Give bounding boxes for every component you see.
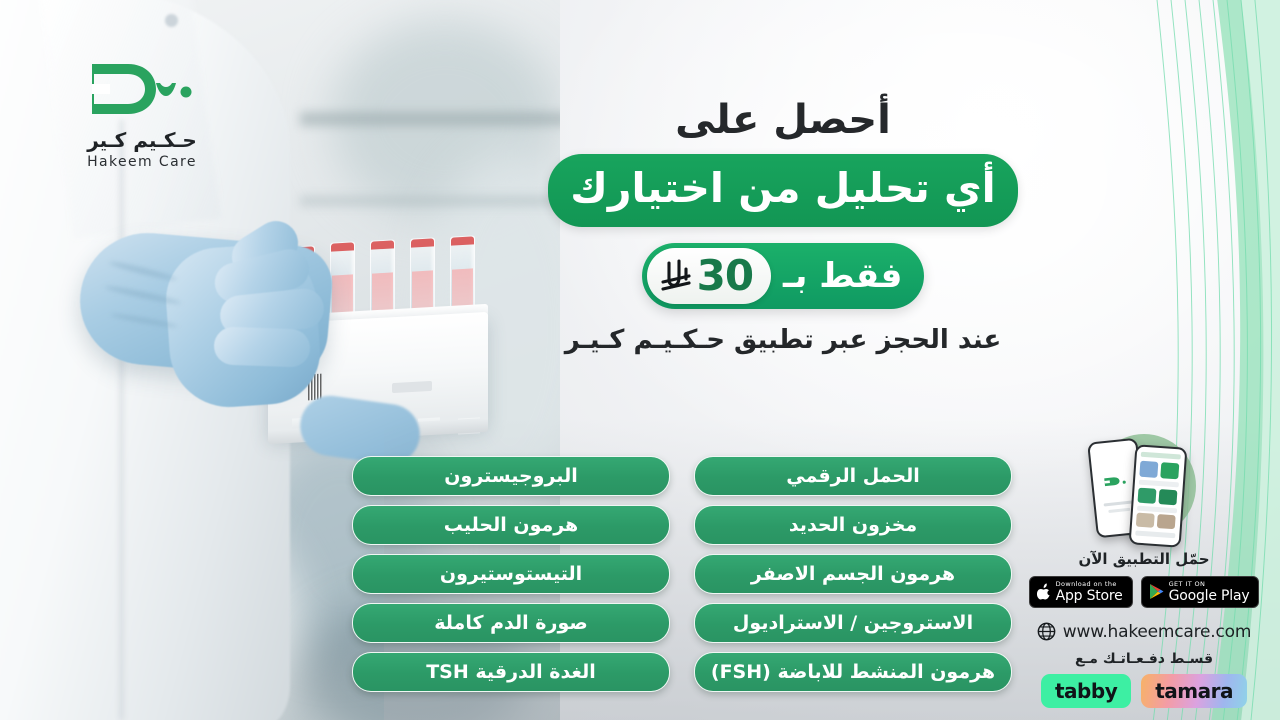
test-pill[interactable]: الغدة الدرقية TSH — [352, 652, 670, 692]
phone-mockups-icon — [1020, 430, 1268, 542]
google-play-icon — [1149, 583, 1164, 600]
price-amount: 30 — [697, 255, 753, 297]
logo-name-en: Hakeem Care — [52, 154, 232, 170]
headline-banner-text: أي تحليل من اختيارك — [566, 163, 1000, 214]
price-chip: 30 — [647, 248, 771, 304]
headline-kicker: أحصل على — [548, 96, 1018, 144]
test-pill[interactable]: صورة الدم كاملة — [352, 603, 670, 643]
google-play-large: Google Play — [1169, 589, 1250, 603]
promo-banner: حـكـيم كـير Hakeem Care أحصل على أي تحلي… — [0, 0, 1280, 720]
test-pill[interactable]: مخزون الحديد — [694, 505, 1012, 545]
test-pill[interactable]: هرمون المنشط للاباضة (FSH) — [694, 652, 1012, 692]
app-store-large: App Store — [1056, 589, 1123, 603]
saudi-riyal-icon — [661, 258, 695, 294]
test-pill[interactable]: البروجيسترون — [352, 456, 670, 496]
website-url: www.hakeemcare.com — [1063, 622, 1251, 642]
pay-providers: tamara tabby — [1020, 674, 1268, 708]
headline-banner: أي تحليل من اختيارك — [548, 154, 1018, 227]
test-pill[interactable]: هرمون الجسم الاصفر — [694, 554, 1012, 594]
test-pill[interactable]: الحمل الرقمي — [694, 456, 1012, 496]
tamara-badge[interactable]: tamara — [1141, 674, 1247, 708]
test-pill[interactable]: هرمون الحليب — [352, 505, 670, 545]
dr-monogram-icon — [84, 56, 200, 122]
price-label: فقط بـ — [771, 256, 902, 296]
tabby-badge[interactable]: tabby — [1041, 674, 1131, 708]
app-sidebar: حمّل التطبيق الآن GET IT ON Google Play — [1020, 430, 1268, 708]
phone-front — [1129, 444, 1188, 547]
headline-subline: عند الحجز عبر تطبيق حـكـيـم كـيـر — [548, 325, 1018, 355]
tests-column-right: الحمل الرقمي مخزون الحديد هرمون الجسم ال… — [694, 456, 1012, 692]
tests-column-left: البروجيسترون هرمون الحليب التيستوستيرون … — [352, 456, 670, 692]
app-store-button[interactable]: Download on the App Store — [1029, 576, 1133, 608]
logo-name-ar: حـكـيم كـير — [52, 128, 232, 152]
globe-icon — [1037, 622, 1056, 641]
google-play-button[interactable]: GET IT ON Google Play — [1141, 576, 1260, 608]
pay-label: قسـط دفـعـاتـك مـع — [1020, 651, 1268, 667]
test-pill[interactable]: التيستوستيرون — [352, 554, 670, 594]
price-badge: فقط بـ 30 — [642, 243, 925, 309]
test-pill[interactable]: الاستروجين / الاستراديول — [694, 603, 1012, 643]
brand-logo: حـكـيم كـير Hakeem Care — [52, 56, 232, 170]
download-label: حمّل التطبيق الآن — [1020, 550, 1268, 568]
google-play-small: GET IT ON — [1169, 581, 1250, 588]
headline-block: أحصل على أي تحليل من اختيارك فقط بـ 30 — [548, 96, 1018, 355]
tests-grid: الحمل الرقمي مخزون الحديد هرمون الجسم ال… — [352, 456, 1012, 692]
apple-icon — [1037, 583, 1051, 600]
store-badges: GET IT ON Google Play Download on the Ap… — [1020, 576, 1268, 608]
app-store-small: Download on the — [1056, 581, 1123, 588]
price-row: فقط بـ 30 — [548, 243, 1018, 309]
website-row[interactable]: www.hakeemcare.com — [1020, 622, 1268, 642]
